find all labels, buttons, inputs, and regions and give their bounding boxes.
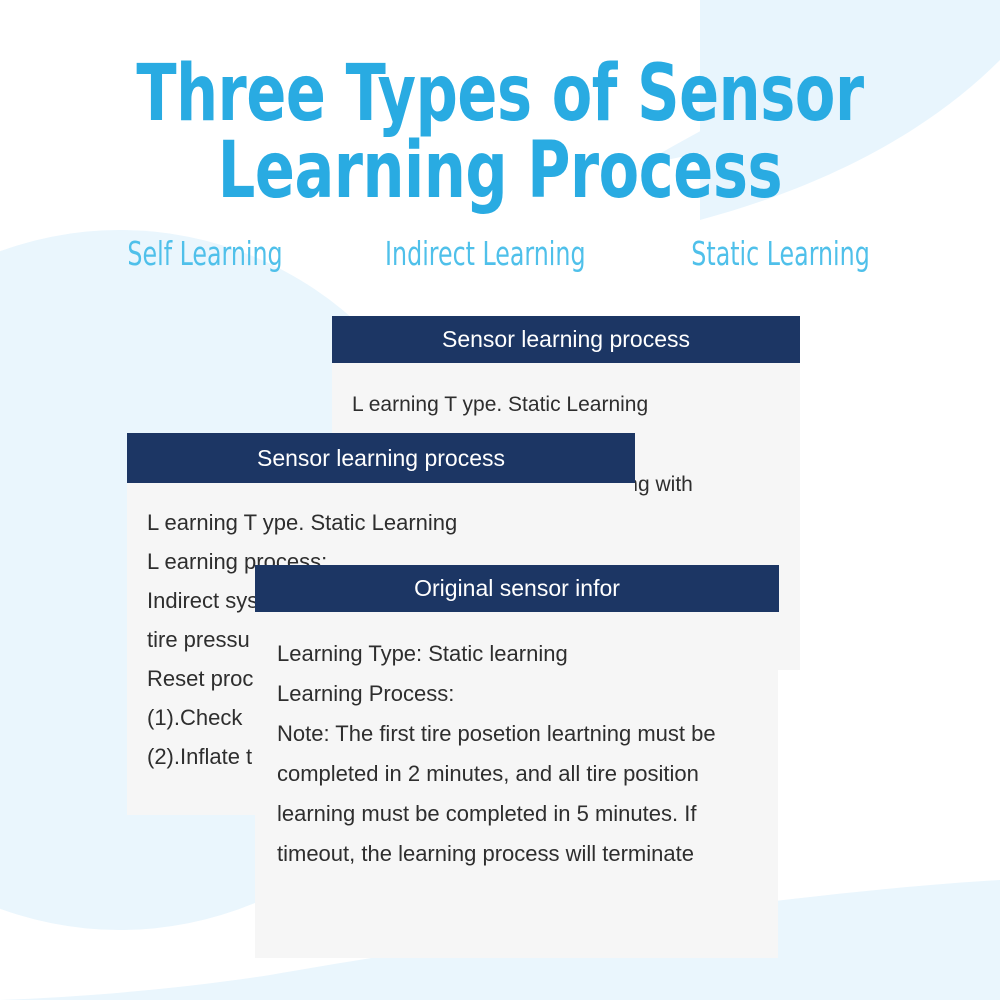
card-3-line-1: Learning Type: Static learning [277, 634, 756, 674]
card-3-body: Learning Type: Static learning Learning … [255, 612, 778, 958]
card-3-header: Original sensor infor [255, 565, 779, 612]
subtitle-static-learning: Static Learning [691, 234, 869, 273]
card-original-sensor-infor-front[interactable]: Original sensor infor Learning Type: Sta… [255, 565, 779, 958]
page-title: Three Types of Sensor Learning Process [80, 0, 920, 210]
card-1-header: Sensor learning process [332, 316, 800, 363]
page-header: Three Types of Sensor Learning Process S… [0, 0, 1000, 273]
subtitle-indirect-learning: Indirect Learning [385, 234, 585, 273]
card-3-note: Note: The first tire posetion leartning … [277, 714, 756, 874]
card-3-line-2: Learning Process: [277, 674, 756, 714]
card-2-header: Sensor learning process [127, 433, 635, 483]
subtitle-row: Self Learning Indirect Learning Static L… [0, 234, 1000, 273]
page-title-line-2: Learning Process [218, 126, 782, 216]
card-2-line-1: L earning T ype. Static Learning [147, 503, 615, 542]
subtitle-self-learning: Self Learning [128, 234, 283, 273]
card-1-line-1: L earning T ype. Static Learning [352, 385, 780, 425]
